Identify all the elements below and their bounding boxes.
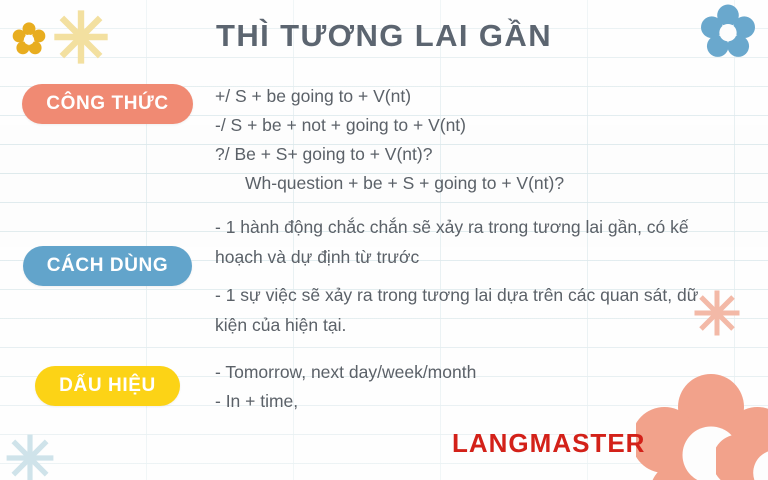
formula-line-question: ?/ Be + S+ going to + V(nt)?	[215, 140, 718, 169]
usage-line-2: - 1 sự việc sẽ xảy ra trong tương lai dự…	[215, 280, 705, 340]
badge-cach-dung[interactable]: CÁCH DÙNG	[23, 246, 193, 286]
section-usage: CÁCH DÙNG - 1 hành động chắc chắn sẽ xảy…	[0, 212, 768, 340]
signs-body: - Tomorrow, next day/week/month - In + t…	[215, 358, 768, 416]
usage-badge-container: CÁCH DÙNG	[0, 212, 215, 286]
signs-line-2: - In + time,	[215, 387, 718, 416]
signs-line-1: - Tomorrow, next day/week/month	[215, 358, 718, 387]
infographic-canvas: THÌ TƯƠNG LAI GẦN CÔNG THỨC +/ S + be go…	[0, 0, 768, 480]
page-title: THÌ TƯƠNG LAI GẦN	[0, 18, 768, 54]
formula-body: +/ S + be going to + V(nt) -/ S + be + n…	[215, 82, 768, 198]
section-formula: CÔNG THỨC +/ S + be going to + V(nt) -/ …	[0, 82, 768, 198]
signs-badge-container: DẤU HIỆU	[0, 358, 215, 406]
badge-cong-thuc[interactable]: CÔNG THỨC	[22, 84, 193, 124]
section-signs: DẤU HIỆU - Tomorrow, next day/week/month…	[0, 358, 768, 416]
formula-badge-container: CÔNG THỨC	[0, 82, 215, 124]
flower-large-salmon-secondary-icon	[716, 408, 768, 480]
usage-line-1: - 1 hành động chắc chắn sẽ xảy ra trong …	[215, 212, 705, 272]
badge-dau-hieu[interactable]: DẤU HIỆU	[35, 366, 180, 406]
formula-line-negative: -/ S + be + not + going to + V(nt)	[215, 111, 718, 140]
starburst-pale-blue-icon	[4, 432, 56, 480]
formula-line-affirmative: +/ S + be going to + V(nt)	[215, 82, 718, 111]
formula-line-wh-question: Wh-question + be + S + going to + V(nt)?	[215, 169, 718, 198]
langmaster-logo: LANGMASTER	[452, 428, 645, 459]
usage-body: - 1 hành động chắc chắn sẽ xảy ra trong …	[215, 212, 768, 340]
